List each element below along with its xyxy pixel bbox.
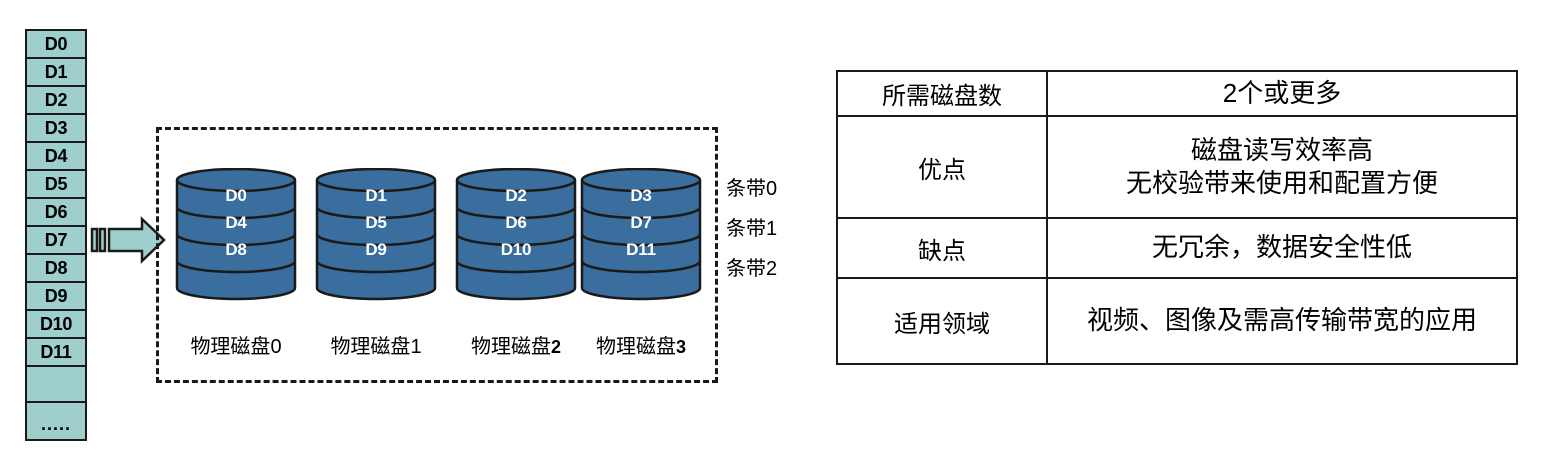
disk-segment-label: D3 [580, 186, 702, 206]
logical-block-cell: D7 [27, 227, 85, 255]
table-row-label: 缺点 [837, 218, 1047, 278]
physical-disk-caption: 物理磁盘1 [306, 330, 446, 359]
logical-block-cell: ..... [27, 403, 85, 439]
logical-block-cell: D9 [27, 283, 85, 311]
physical-disk: D3D7D11 [580, 168, 702, 298]
logical-block-cell: D11 [27, 339, 85, 367]
table-row: 缺点无冗余，数据安全性低 [837, 218, 1517, 278]
table-row-label: 所需磁盘数 [837, 71, 1047, 116]
physical-disk-caption-text: 物理磁盘 [471, 336, 551, 358]
disk-segment-label: D9 [315, 240, 437, 260]
raid0-properties-table: 所需磁盘数2个或更多优点磁盘读写效率高无校验带来使用和配置方便缺点无冗余，数据安… [836, 70, 1518, 365]
logical-block-cell: D2 [27, 87, 85, 115]
physical-disk-caption-index: 3 [676, 337, 686, 357]
disk-segment-label: D7 [580, 213, 702, 233]
logical-block-cell: D3 [27, 115, 85, 143]
table-row: 适用领域视频、图像及需高传输带宽的应用 [837, 278, 1517, 364]
physical-disk-caption: 物理磁盘0 [166, 330, 306, 359]
physical-disk-caption-text: 物理磁盘 [596, 336, 676, 358]
table-row-value: 视频、图像及需高传输带宽的应用 [1047, 278, 1517, 364]
disk-segment-label: D2 [455, 186, 577, 206]
logical-block-cell [27, 367, 85, 403]
logical-block-cell: D4 [27, 143, 85, 171]
logical-block-cell: D6 [27, 199, 85, 227]
disk-segment-label: D6 [455, 213, 577, 233]
stripe-label: 条带0 [726, 172, 777, 201]
physical-disk: D0D4D8 [175, 168, 297, 298]
logical-block-cell: D0 [27, 31, 85, 59]
disk-segment-label: D10 [455, 240, 577, 260]
physical-disk-caption-text: 物理磁盘 [190, 336, 270, 358]
logical-block-cell: D10 [27, 311, 85, 339]
physical-disk-caption-index: 0 [270, 336, 281, 358]
disk-segment-label: D1 [315, 186, 437, 206]
stripe-label: 条带2 [726, 252, 777, 281]
table-row-value: 无冗余，数据安全性低 [1047, 218, 1517, 278]
table-row: 所需磁盘数2个或更多 [837, 71, 1517, 116]
table-row-value: 磁盘读写效率高无校验带来使用和配置方便 [1047, 116, 1517, 218]
physical-disk-caption: 物理磁盘2 [446, 330, 586, 359]
physical-disk: D2D6D10 [455, 168, 577, 298]
disk-segment-label: D5 [315, 213, 437, 233]
physical-disk-caption-text: 物理磁盘 [330, 336, 410, 358]
stripe-label: 条带1 [726, 212, 777, 241]
table-row: 优点磁盘读写效率高无校验带来使用和配置方便 [837, 116, 1517, 218]
logical-block-cell: D5 [27, 171, 85, 199]
logical-block-cell: D1 [27, 59, 85, 87]
disk-segment-label: D8 [175, 240, 297, 260]
logical-block-cell: D8 [27, 255, 85, 283]
table-row-label: 适用领域 [837, 278, 1047, 364]
disk-segment-label: D0 [175, 186, 297, 206]
table-row-label: 优点 [837, 116, 1047, 218]
disk-segment-label: D4 [175, 213, 297, 233]
table-row-value: 2个或更多 [1047, 71, 1517, 116]
physical-disk-caption: 物理磁盘3 [571, 330, 711, 359]
physical-disk: D1D5D9 [315, 168, 437, 298]
disk-segment-label: D11 [580, 240, 702, 260]
logical-data-block-column: D0D1D2D3D4D5D6D7D8D9D10D11..... [25, 29, 87, 441]
physical-disk-caption-index: 1 [410, 336, 421, 358]
physical-disk-caption-index: 2 [551, 337, 561, 357]
